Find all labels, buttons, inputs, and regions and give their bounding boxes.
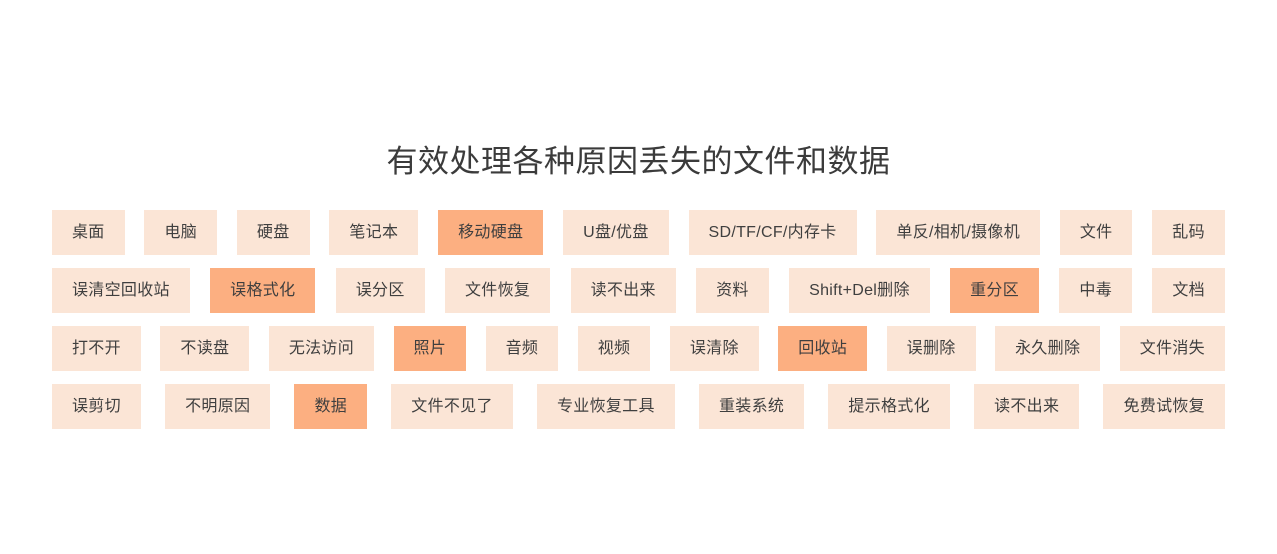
tag-item[interactable]: 免费试恢复	[1103, 384, 1225, 429]
tag-item[interactable]: 无法访问	[269, 326, 374, 371]
tag-item[interactable]: 乱码	[1152, 210, 1225, 255]
tag-item[interactable]: 文档	[1152, 268, 1225, 313]
tag-item[interactable]: 误清空回收站	[52, 268, 190, 313]
tag-item[interactable]: 文件	[1060, 210, 1133, 255]
tag-item[interactable]: 回收站	[778, 326, 867, 371]
tag-item[interactable]: U盘/优盘	[563, 210, 669, 255]
tag-item[interactable]: 中毒	[1059, 268, 1132, 313]
tag-item[interactable]: 桌面	[52, 210, 125, 255]
tag-item[interactable]: 读不出来	[571, 268, 676, 313]
tag-item[interactable]: 笔记本	[329, 210, 418, 255]
page-title: 有效处理各种原因丢失的文件和数据	[0, 141, 1277, 183]
tag-row: 误清空回收站误格式化误分区文件恢复读不出来资料Shift+Del删除重分区中毒文…	[52, 268, 1225, 313]
tag-item[interactable]: 误格式化	[210, 268, 315, 313]
tag-item[interactable]: 单反/相机/摄像机	[876, 210, 1040, 255]
tag-row: 打不开不读盘无法访问照片音频视频误清除回收站误删除永久删除文件消失	[52, 326, 1225, 371]
tag-item[interactable]: 照片	[394, 326, 467, 371]
tag-item[interactable]: 提示格式化	[828, 384, 950, 429]
tag-item[interactable]: 电脑	[144, 210, 217, 255]
page-root: 有效处理各种原因丢失的文件和数据 桌面电脑硬盘笔记本移动硬盘U盘/优盘SD/TF…	[0, 0, 1277, 554]
tag-item[interactable]: 移动硬盘	[438, 210, 543, 255]
tag-item[interactable]: 资料	[696, 268, 769, 313]
tag-row: 桌面电脑硬盘笔记本移动硬盘U盘/优盘SD/TF/CF/内存卡单反/相机/摄像机文…	[52, 210, 1225, 255]
tag-item[interactable]: 误剪切	[52, 384, 141, 429]
tag-item[interactable]: 文件消失	[1120, 326, 1225, 371]
tag-item[interactable]: 文件不见了	[391, 384, 513, 429]
tag-item[interactable]: 误删除	[887, 326, 976, 371]
tag-item[interactable]: Shift+Del删除	[789, 268, 930, 313]
tag-item[interactable]: 音频	[486, 326, 559, 371]
tag-item[interactable]: 重分区	[950, 268, 1039, 313]
tag-item[interactable]: 专业恢复工具	[537, 384, 675, 429]
tag-item[interactable]: 误分区	[336, 268, 425, 313]
tag-item[interactable]: 打不开	[52, 326, 141, 371]
tag-item[interactable]: SD/TF/CF/内存卡	[689, 210, 857, 255]
tag-item[interactable]: 重装系统	[699, 384, 804, 429]
tag-cloud: 桌面电脑硬盘笔记本移动硬盘U盘/优盘SD/TF/CF/内存卡单反/相机/摄像机文…	[52, 210, 1225, 429]
tag-item[interactable]: 数据	[294, 384, 367, 429]
tag-item[interactable]: 视频	[578, 326, 651, 371]
tag-item[interactable]: 硬盘	[237, 210, 310, 255]
tag-row: 误剪切不明原因数据文件不见了专业恢复工具重装系统提示格式化读不出来免费试恢复	[52, 384, 1225, 429]
tag-item[interactable]: 读不出来	[974, 384, 1079, 429]
tag-item[interactable]: 不读盘	[160, 326, 249, 371]
tag-item[interactable]: 不明原因	[165, 384, 270, 429]
tag-item[interactable]: 文件恢复	[445, 268, 550, 313]
tag-item[interactable]: 误清除	[670, 326, 759, 371]
tag-item[interactable]: 永久删除	[995, 326, 1100, 371]
